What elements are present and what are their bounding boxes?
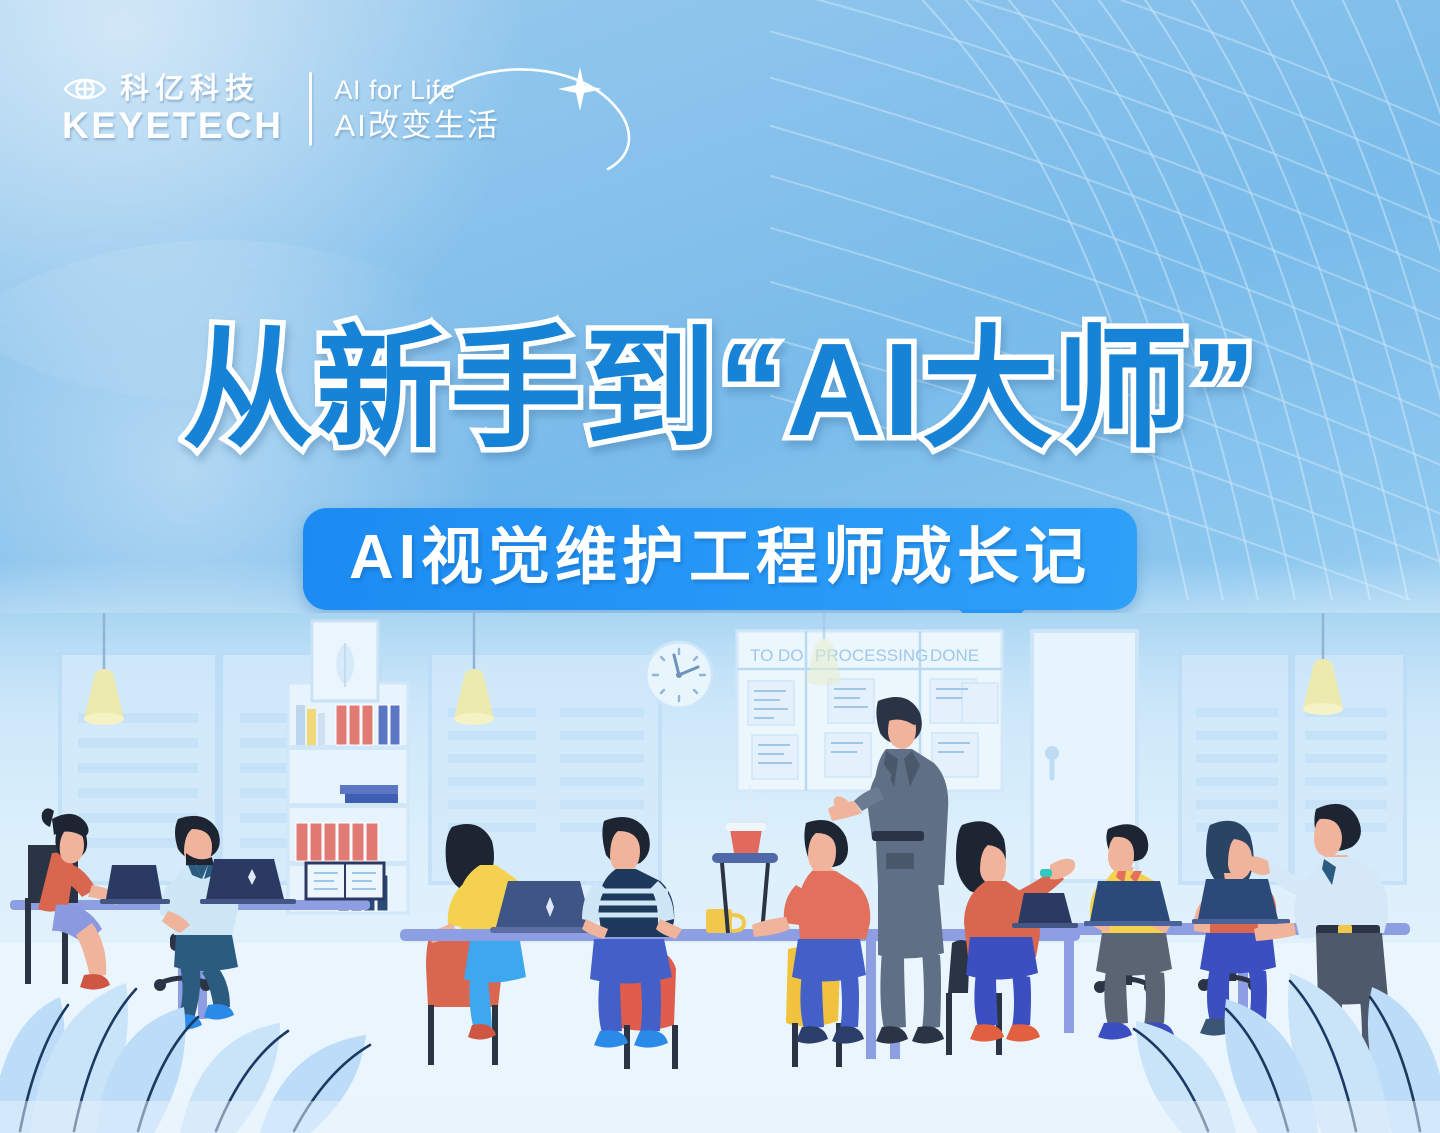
monitor-left (306, 863, 384, 899)
hero-title-wrap: 从新手到“AI大师” (0, 320, 1440, 460)
brand-tagline-group: AI for Life AI改变生活 (334, 77, 499, 141)
hero-subtitle-wrap: AI视觉维护工程师成长记 (0, 508, 1440, 610)
wall-clock (646, 642, 712, 708)
brand-name-en: KEYETECH (62, 107, 283, 144)
arc-sparkle-icon (412, 55, 662, 173)
kanban-board: TO DO PROCESSING DONE (737, 631, 1002, 791)
poster-canvas: 科亿科技 KEYETECH AI for Life AI改变生活 从新手到“AI… (0, 0, 1440, 1133)
kanban-col-todo: TO DO (750, 646, 804, 665)
hero-title: 从新手到“AI大师” (182, 320, 1258, 460)
brand-logo: 科亿科技 KEYETECH AI for Life AI改变生活 (62, 72, 500, 146)
office-illustration: TO DO PROCESSING DONE (0, 613, 1440, 1133)
subtitle-banner: AI视觉维护工程师成长记 (303, 508, 1137, 610)
framed-picture (312, 621, 378, 701)
eye-vision-icon (62, 74, 108, 104)
office-scene: TO DO PROCESSING DONE (0, 613, 1440, 1133)
stacked-books (340, 785, 398, 803)
brand-name-group: 科亿科技 KEYETECH (62, 74, 283, 144)
kanban-col-done: DONE (930, 646, 979, 665)
hero-subtitle: AI视觉维护工程师成长记 (349, 524, 1091, 592)
logo-divider (309, 72, 312, 146)
brand-name-cn: 科亿科技 (120, 75, 260, 104)
